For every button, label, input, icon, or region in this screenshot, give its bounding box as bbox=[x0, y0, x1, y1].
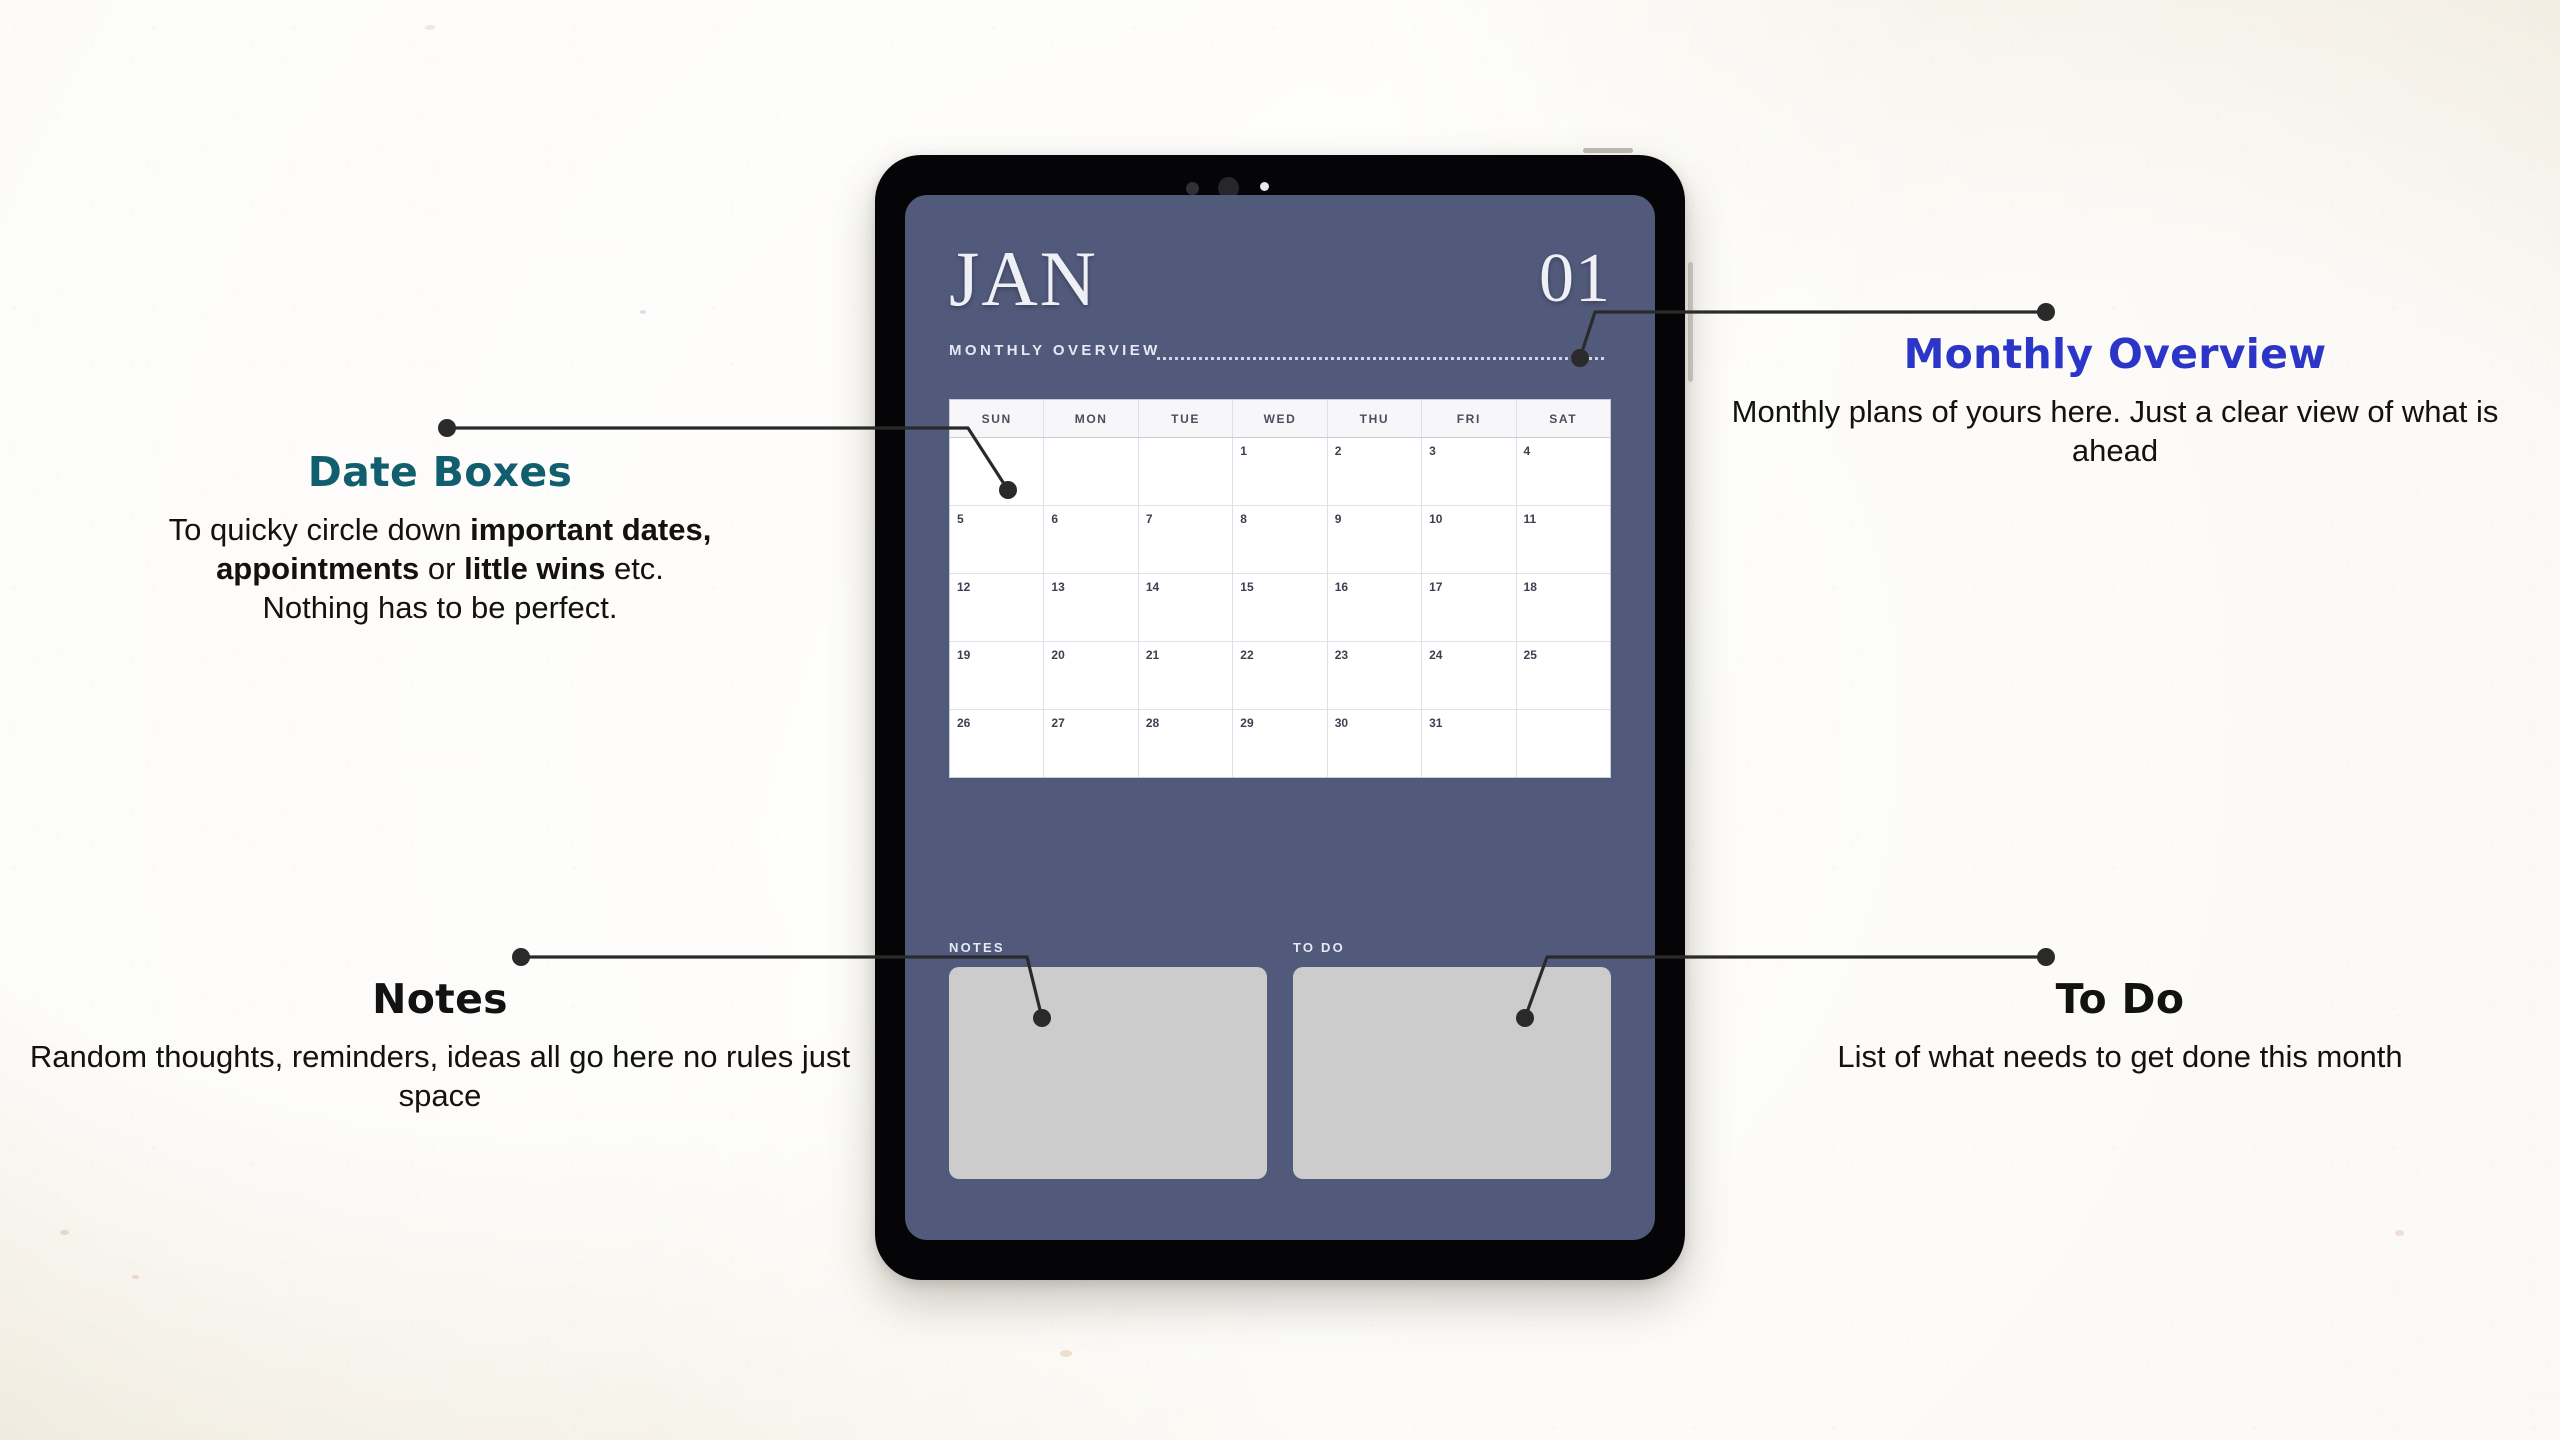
calendar-day-9[interactable]: 9 bbox=[1328, 506, 1422, 573]
calendar-weekday-mon: MON bbox=[1044, 400, 1138, 437]
callout-todo-title: To Do bbox=[1700, 975, 2540, 1023]
todo-label: TO DO bbox=[1293, 940, 1611, 955]
calendar-day-26[interactable]: 26 bbox=[950, 710, 1044, 777]
todo-box[interactable] bbox=[1293, 967, 1611, 1179]
calendar-day-2[interactable]: 2 bbox=[1328, 438, 1422, 505]
calendar-weekday-tue: TUE bbox=[1139, 400, 1233, 437]
calendar-day-12[interactable]: 12 bbox=[950, 574, 1044, 641]
calendar-day-13[interactable]: 13 bbox=[1044, 574, 1138, 641]
planner-header: JAN 01 MONTHLY OVERVIEW bbox=[949, 240, 1611, 360]
calendar-week-row: 19202122232425 bbox=[950, 642, 1610, 710]
callout-notes-title: Notes bbox=[20, 975, 860, 1023]
calendar-day-3[interactable]: 3 bbox=[1422, 438, 1516, 505]
calendar-day-28[interactable]: 28 bbox=[1139, 710, 1233, 777]
calendar-day-empty bbox=[1517, 710, 1610, 777]
planner-screen: JAN 01 MONTHLY OVERVIEW SUNMONTUEWEDTHUF… bbox=[905, 195, 1655, 1240]
calendar-day-21[interactable]: 21 bbox=[1139, 642, 1233, 709]
paper-speck bbox=[1060, 1350, 1072, 1357]
date-boxes-line1-bold: important dates, bbox=[470, 512, 711, 547]
calendar-day-29[interactable]: 29 bbox=[1233, 710, 1327, 777]
callout-date-boxes-title: Date Boxes bbox=[10, 448, 870, 496]
calendar-day-15[interactable]: 15 bbox=[1233, 574, 1327, 641]
calendar-weekday-wed: WED bbox=[1233, 400, 1327, 437]
todo-panel: TO DO bbox=[1293, 940, 1611, 1179]
date-boxes-line2-mid: or bbox=[419, 551, 464, 586]
calendar-day-4[interactable]: 4 bbox=[1517, 438, 1610, 505]
calendar-day-11[interactable]: 11 bbox=[1517, 506, 1610, 573]
calendar-day-20[interactable]: 20 bbox=[1044, 642, 1138, 709]
date-boxes-line2-bold-b: little wins bbox=[464, 551, 605, 586]
calendar-day-empty bbox=[1044, 438, 1138, 505]
calendar-weekday-sat: SAT bbox=[1517, 400, 1610, 437]
calendar-week-row: 12131415161718 bbox=[950, 574, 1610, 642]
date-boxes-line3: Nothing has to be perfect. bbox=[262, 590, 617, 625]
calendar-grid: SUNMONTUEWEDTHUFRISAT 123456789101112131… bbox=[949, 399, 1611, 778]
calendar-day-17[interactable]: 17 bbox=[1422, 574, 1516, 641]
calendar-weekday-sun: SUN bbox=[950, 400, 1044, 437]
month-number: 01 bbox=[1539, 242, 1611, 316]
paper-speck bbox=[132, 1275, 139, 1279]
calendar-day-22[interactable]: 22 bbox=[1233, 642, 1327, 709]
planner-bottom-section: NOTES TO DO bbox=[949, 940, 1611, 1179]
date-boxes-line2-post: etc. bbox=[605, 551, 664, 586]
calendar-week-row: 567891011 bbox=[950, 506, 1610, 574]
calendar-day-8[interactable]: 8 bbox=[1233, 506, 1327, 573]
paper-speck bbox=[60, 1230, 69, 1235]
callout-notes-body: Random thoughts, reminders, ideas all go… bbox=[20, 1037, 860, 1115]
callout-todo: To Do List of what needs to get done thi… bbox=[1700, 975, 2540, 1076]
calendar-day-31[interactable]: 31 bbox=[1422, 710, 1516, 777]
calendar-weekday-row: SUNMONTUEWEDTHUFRISAT bbox=[950, 400, 1610, 438]
calendar-day-19[interactable]: 19 bbox=[950, 642, 1044, 709]
tablet-device: JAN 01 MONTHLY OVERVIEW SUNMONTUEWEDTHUF… bbox=[875, 155, 1685, 1280]
calendar-week-row: 262728293031 bbox=[950, 710, 1610, 777]
notes-panel: NOTES bbox=[949, 940, 1267, 1179]
calendar-day-25[interactable]: 25 bbox=[1517, 642, 1610, 709]
calendar-day-7[interactable]: 7 bbox=[1139, 506, 1233, 573]
callout-todo-body: List of what needs to get done this mont… bbox=[1700, 1037, 2540, 1076]
calendar-day-24[interactable]: 24 bbox=[1422, 642, 1516, 709]
notes-box[interactable] bbox=[949, 967, 1267, 1179]
monthly-overview-write-line[interactable] bbox=[1157, 357, 1605, 360]
calendar-weekday-fri: FRI bbox=[1422, 400, 1516, 437]
callout-date-boxes: Date Boxes To quicky circle down importa… bbox=[10, 448, 870, 627]
calendar-week-row: 1234 bbox=[950, 438, 1610, 506]
calendar-day-18[interactable]: 18 bbox=[1517, 574, 1610, 641]
calendar-day-16[interactable]: 16 bbox=[1328, 574, 1422, 641]
callout-monthly-overview-title: Monthly Overview bbox=[1690, 330, 2540, 378]
date-boxes-line1-pre: To quicky circle down bbox=[169, 512, 471, 547]
month-label: JAN bbox=[949, 240, 1098, 318]
calendar-day-27[interactable]: 27 bbox=[1044, 710, 1138, 777]
callout-monthly-overview: Monthly Overview Monthly plans of yours … bbox=[1690, 330, 2540, 470]
calendar-body: 1234567891011121314151617181920212223242… bbox=[950, 438, 1610, 777]
callout-monthly-overview-body: Monthly plans of yours here. Just a clea… bbox=[1690, 392, 2540, 470]
calendar-day-1[interactable]: 1 bbox=[1233, 438, 1327, 505]
calendar-day-23[interactable]: 23 bbox=[1328, 642, 1422, 709]
paper-speck bbox=[640, 310, 646, 314]
callout-date-boxes-body: To quicky circle down important dates, a… bbox=[10, 510, 870, 627]
calendar-weekday-thu: THU bbox=[1328, 400, 1422, 437]
calendar-day-6[interactable]: 6 bbox=[1044, 506, 1138, 573]
date-boxes-line2-bold-a: appointments bbox=[216, 551, 419, 586]
calendar-day-empty bbox=[1139, 438, 1233, 505]
paper-speck bbox=[425, 25, 435, 30]
calendar-day-empty bbox=[950, 438, 1044, 505]
calendar-day-30[interactable]: 30 bbox=[1328, 710, 1422, 777]
calendar-day-10[interactable]: 10 bbox=[1422, 506, 1516, 573]
tablet-top-button[interactable] bbox=[1583, 148, 1633, 153]
notes-label: NOTES bbox=[949, 940, 1267, 955]
callout-notes: Notes Random thoughts, reminders, ideas … bbox=[20, 975, 860, 1115]
monthly-overview-label: MONTHLY OVERVIEW bbox=[949, 342, 1161, 359]
paper-speck bbox=[2395, 1230, 2404, 1236]
calendar-day-5[interactable]: 5 bbox=[950, 506, 1044, 573]
calendar-day-14[interactable]: 14 bbox=[1139, 574, 1233, 641]
sensor-dot-small bbox=[1186, 182, 1199, 195]
sensor-dot-tiny bbox=[1260, 182, 1269, 191]
